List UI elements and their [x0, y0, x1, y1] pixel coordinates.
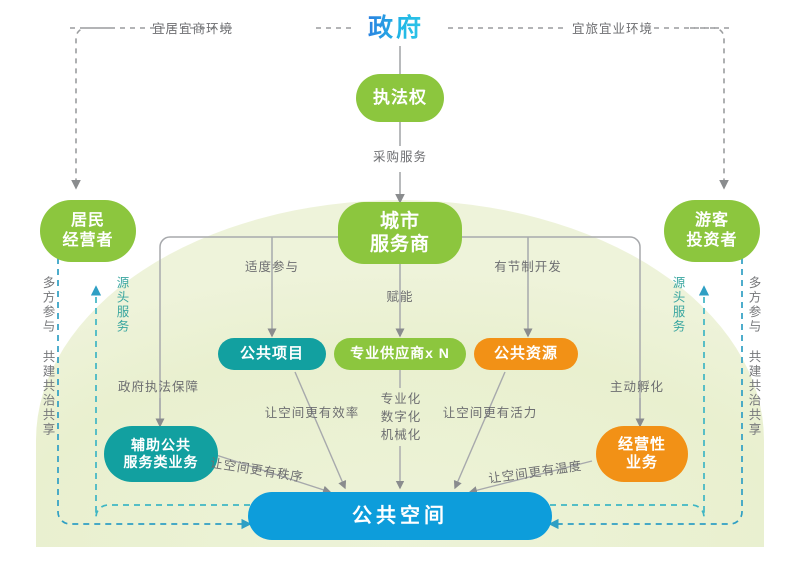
node-aux-public-service[interactable]: 辅助公共 服务类业务 — [104, 426, 218, 482]
node-residents-operators[interactable]: 居民 经营者 — [40, 200, 136, 262]
label-moderate-participation: 适度参与 — [238, 258, 306, 276]
page-title: 政府 — [368, 8, 424, 44]
dashed-right-top — [690, 28, 724, 188]
node-enforcement-power[interactable]: 执法权 — [356, 74, 444, 122]
dashed-left-top — [76, 28, 110, 188]
node-public-project[interactable]: 公共项目 — [218, 338, 326, 370]
label-livable-business-env: 宜居宜商环境 — [152, 20, 233, 38]
label-tourism-business-env: 宜旅宜业环境 — [572, 20, 653, 38]
node-public-resources[interactable]: 公共资源 — [474, 338, 578, 370]
label-right-multiparty: 多方参与 共建共治共享 — [744, 276, 762, 437]
label-procure-service: 采购服务 — [368, 148, 432, 166]
label-more-efficient: 让空间更有效率 — [260, 404, 364, 422]
label-capabilities: 专业化 数字化 机械化 — [372, 390, 430, 444]
node-public-space[interactable]: 公共空间 — [248, 492, 552, 540]
label-more-vitality: 让空间更有活力 — [438, 404, 542, 422]
node-tourists-investors[interactable]: 游客 投资者 — [664, 200, 760, 262]
label-right-source-service: 源头服务 — [668, 276, 686, 334]
label-gov-enforcement-guarantee: 政府执法保障 — [118, 378, 199, 396]
label-restrained-development: 有节制开发 — [486, 258, 570, 276]
label-empowerment: 赋能 — [378, 288, 422, 306]
label-active-incubation: 主动孵化 — [610, 378, 664, 396]
label-left-multiparty: 多方参与 共建共治共享 — [38, 276, 56, 437]
diagram-canvas: 政府 宜居宜商环境 宜旅宜业环境 执法权 采购服务 城市 服务商 居民 经营者 … — [0, 0, 800, 577]
node-city-service-provider[interactable]: 城市 服务商 — [338, 202, 462, 264]
node-commercial-business[interactable]: 经营性 业务 — [596, 426, 688, 482]
label-left-source-service: 源头服务 — [112, 276, 130, 334]
node-professional-suppliers[interactable]: 专业供应商x N — [334, 338, 466, 370]
